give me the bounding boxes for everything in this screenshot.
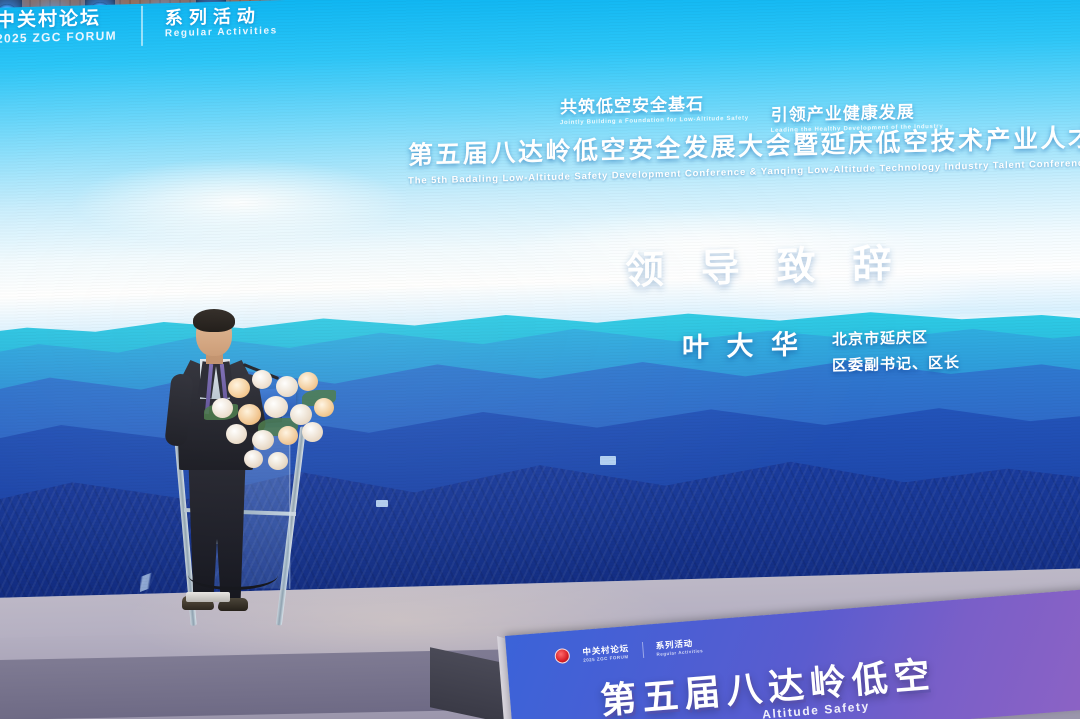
flower-white xyxy=(226,424,247,444)
board-logo-divider xyxy=(641,641,643,657)
board-brand-lockup: 中关村论坛 2025 ZGC FORUM 系列活动 Regular Activi… xyxy=(554,636,703,665)
logo-divider xyxy=(141,6,143,46)
speaker-name: 叶 大 华 xyxy=(682,322,803,364)
flower-peach xyxy=(238,404,261,425)
zgc-forum-logo-en: 2025 ZGC FORUM xyxy=(0,28,117,46)
flower-white xyxy=(276,376,298,397)
floor-cable xyxy=(188,560,278,590)
session-headline: 领 导 致 辞 xyxy=(625,232,905,295)
screen-brand-lockup: 中关村论坛 2025 ZGC FORUM 系列活动 Regular Activi… xyxy=(0,0,290,52)
power-strip xyxy=(186,592,230,602)
series-activities-cn: 系列活动 xyxy=(165,6,278,28)
flower-white xyxy=(212,398,233,418)
flower-white xyxy=(252,430,274,450)
board-series-logo: 系列活动 Regular Activities xyxy=(655,636,703,657)
zgc-forum-logo: 中关村论坛 2025 ZGC FORUM xyxy=(0,4,129,52)
speaker-hair xyxy=(193,309,235,332)
flower-peach xyxy=(278,426,298,445)
flower-arrangement xyxy=(198,360,348,480)
flower-peach xyxy=(298,372,318,391)
flower-white xyxy=(268,452,288,470)
speaker-role-line1: 北京市延庆区 xyxy=(832,324,960,354)
board-zgc-logo: 中关村论坛 2025 ZGC FORUM xyxy=(582,642,630,663)
series-activities-en: Regular Activities xyxy=(165,25,278,40)
series-activities-logo: 系列活动 Regular Activities xyxy=(155,2,290,46)
flower-white xyxy=(302,422,323,442)
great-wall-turret xyxy=(600,456,616,465)
flower-white xyxy=(252,370,272,389)
flower-peach xyxy=(314,398,334,417)
conference-stage-photo: 中关村论坛 2025 ZGC FORUM 系列活动 Regular Activi… xyxy=(0,0,1080,719)
speaker-role-line2: 区委副书记、区长 xyxy=(832,351,960,381)
cloud-shape xyxy=(70,158,410,248)
great-wall-turret xyxy=(376,500,388,507)
speaker-role: 北京市延庆区 区委副书记、区长 xyxy=(832,324,960,380)
zgc-badge-icon xyxy=(554,648,570,664)
flower-peach xyxy=(228,378,250,398)
flower-white xyxy=(264,396,288,418)
flower-white xyxy=(244,450,263,468)
slogan-1-cn: 共筑低空安全基石 xyxy=(560,89,749,119)
